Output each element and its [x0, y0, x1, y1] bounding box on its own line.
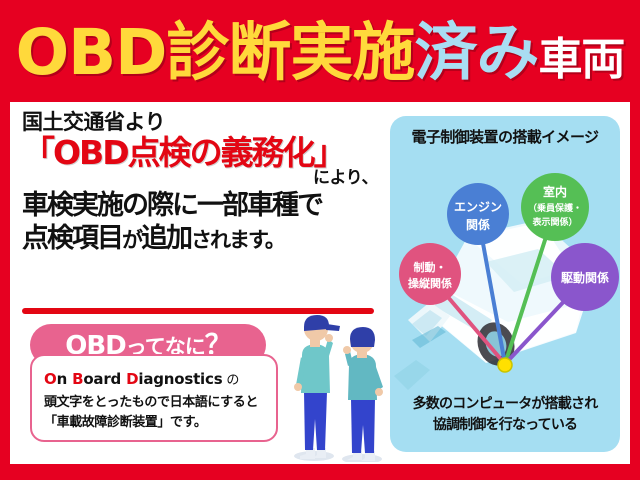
header-title-white: 車両: [538, 34, 624, 85]
obd-rest-oard: oard: [83, 370, 126, 388]
node-engine[interactable]: エンジン 関係: [447, 183, 509, 245]
person-right-pants: [351, 399, 375, 453]
obd-cap-d: D: [126, 370, 138, 388]
header-title: OBD診断実施済み車両: [16, 21, 625, 84]
ecu-diagram-panel: 電子制御装置の搭載イメージ: [390, 116, 620, 452]
obd-cap-b: B: [72, 370, 83, 388]
person-right-hair: [350, 327, 375, 347]
node-drivetrain-label-1: 駆動関係: [561, 270, 609, 285]
obd-definition-line-2: 頭文字をとったもので日本語にすると: [44, 393, 266, 413]
notice-line-5-b: が: [122, 228, 141, 252]
notice-line-1: 国土交通省より: [22, 110, 378, 134]
header-title-blue: 済み: [414, 16, 538, 89]
poster-root: OBD診断実施済み車両 国土交通省より 「OBD点検の義務化」 により、 車検実…: [0, 0, 640, 480]
notice-line-5-d: されます。: [191, 228, 284, 252]
obd-rest-iagnostics: iagnostics: [138, 370, 222, 388]
node-brake-steering[interactable]: 制動・ 操縦関係: [399, 243, 461, 305]
notice-line-4: 車検実施の際に一部車種で: [22, 190, 378, 223]
person-right-hand: [343, 346, 351, 354]
people-illustration: [284, 307, 394, 462]
obd-definition-line-1: On Board Diagnostics の: [44, 370, 266, 389]
person-left-cap-brim: [326, 324, 340, 331]
panel-footer: 多数のコンピュータが搭載され 協調制御を行なっている: [390, 394, 620, 436]
panel-footer-line-2: 協調制御を行なっている: [390, 415, 620, 436]
header-banner: OBD診断実施済み車両: [0, 0, 640, 100]
obd-definition-line-3: 「車載故障診断装置」です。: [44, 413, 266, 433]
obd-definition-box: On Board Diagnostics の 頭文字をとったもので日本語にすると…: [30, 354, 278, 442]
node-interior-label-3: 表示関係）: [531, 216, 577, 228]
notice-line-5-c: 追加: [141, 223, 191, 254]
left-column: 国土交通省より 「OBD点検の義務化」 により、 車検実施の際に一部車種で 点検…: [10, 102, 382, 464]
person-left-hand-2: [294, 383, 302, 391]
person-left-cap: [304, 315, 329, 331]
node-brake-steering-label-1: 制動・: [414, 260, 447, 274]
node-brake-steering-circle[interactable]: [399, 243, 461, 305]
notice-line-2: 「OBD点検の義務化」: [22, 135, 378, 171]
node-interior-label-1: 室内: [543, 184, 567, 199]
notice-block: 国土交通省より 「OBD点検の義務化」 により、 車検実施の際に一部車種で 点検…: [22, 110, 378, 256]
header-title-yellow: OBD診断実施: [16, 16, 415, 89]
ecu-hub-dot: [498, 358, 512, 372]
person-right-shirt: [348, 354, 377, 400]
obd-cap-o: O: [44, 370, 57, 388]
content-card: 国土交通省より 「OBD点検の義務化」 により、 車検実施の際に一部車種で 点検…: [10, 102, 630, 464]
node-brake-steering-label-2: 操縦関係: [408, 276, 452, 290]
node-engine-label-2: 関係: [466, 217, 490, 232]
node-engine-label-1: エンジン: [454, 200, 502, 214]
node-drivetrain[interactable]: 駆動関係: [551, 243, 619, 311]
notice-line-5-a: 点検項目: [22, 223, 122, 254]
person-right-hand-2: [375, 388, 383, 396]
person-left-pants: [304, 392, 327, 450]
obd-rest-n: n: [57, 370, 73, 388]
notice-line-3: により、: [22, 169, 378, 188]
node-engine-circle[interactable]: [447, 183, 509, 245]
obd-particle-no: の: [222, 373, 239, 388]
panel-footer-line-1: 多数のコンピュータが搭載され: [390, 394, 620, 415]
node-interior[interactable]: 室内 （乗員保護・ 表示関係）: [521, 173, 589, 241]
notice-line-5: 点検項目が追加されます。: [22, 223, 378, 256]
node-interior-label-2: （乗員保護・: [528, 202, 582, 214]
